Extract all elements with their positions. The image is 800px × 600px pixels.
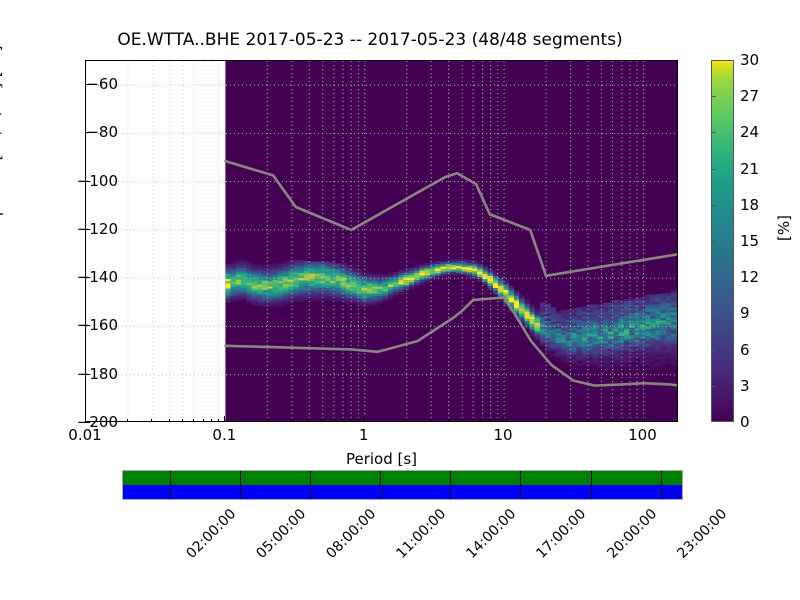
x-tick	[211, 419, 212, 423]
x-tick	[600, 419, 601, 423]
colorbar-tick	[711, 277, 716, 278]
timeline-tick-label: 23:00:00	[674, 506, 730, 562]
colorbar-tick	[711, 132, 716, 133]
y-tick	[85, 181, 90, 182]
x-tick	[193, 419, 194, 423]
x-tick	[448, 419, 449, 423]
ppsd-plot-axes	[85, 60, 678, 422]
timeline-tick-label: 11:00:00	[394, 506, 450, 562]
colorbar-tick-label: 30	[740, 51, 759, 69]
x-tick	[472, 419, 473, 423]
x-axis-label: Period [s]	[85, 450, 678, 468]
timeline-tick-label: 08:00:00	[323, 506, 379, 562]
colorbar-tick-label: 18	[740, 196, 759, 214]
y-tick-label: −80	[86, 123, 118, 141]
timeline-tick	[170, 471, 171, 499]
timeline-row-green	[123, 471, 682, 485]
x-tick	[151, 419, 152, 423]
x-tick	[350, 419, 351, 423]
x-tick	[333, 419, 334, 423]
x-tick	[481, 419, 482, 423]
timeline-row-blue	[123, 485, 682, 499]
x-tick	[461, 419, 462, 423]
colorbar-tick-label: 12	[740, 268, 759, 286]
colorbar-tick-label: 24	[740, 123, 759, 141]
y-tick	[85, 374, 90, 375]
timeline-tick	[240, 471, 241, 499]
y-tick-label: −120	[77, 220, 118, 238]
colorbar-tick-label: 9	[740, 304, 750, 322]
y-tick-label: −140	[77, 268, 118, 286]
colorbar-tick	[711, 205, 716, 206]
x-tick	[503, 416, 504, 422]
y-axis-label: Amplitude [m2/s4/Hz] [dB]	[0, 46, 4, 241]
x-tick	[629, 419, 630, 423]
y-tick	[85, 229, 90, 230]
timeline-tick	[310, 471, 311, 499]
colorbar-tick-label: 15	[740, 232, 759, 250]
y-tick-label: −160	[77, 316, 118, 334]
ppsd-heatmap	[86, 61, 677, 421]
x-tick-label: 1	[359, 426, 369, 444]
y-tick	[85, 325, 90, 326]
x-tick	[266, 419, 267, 423]
x-tick	[308, 419, 309, 423]
y-tick	[85, 422, 90, 423]
colorbar-tick-label: 0	[740, 413, 750, 431]
y-tick-label: −100	[77, 172, 118, 190]
y-tick-label: −60	[86, 75, 118, 93]
colorbar-tick	[711, 169, 716, 170]
timeline-tick	[450, 471, 451, 499]
y-tick-label: −180	[77, 365, 118, 383]
x-tick	[570, 419, 571, 423]
x-tick	[642, 416, 643, 422]
colorbar-tick-label: 6	[740, 341, 750, 359]
x-tick	[85, 416, 86, 422]
x-tick	[545, 419, 546, 423]
x-tick-label: 10	[494, 426, 513, 444]
x-tick	[182, 419, 183, 423]
timeline-tick	[661, 471, 662, 499]
x-tick	[406, 419, 407, 423]
timeline-tick-label: 02:00:00	[183, 506, 239, 562]
x-tick	[224, 416, 225, 422]
x-tick-label: 0.01	[68, 426, 101, 444]
x-tick	[169, 419, 170, 423]
x-tick	[612, 419, 613, 423]
x-tick-label: 0.1	[212, 426, 236, 444]
x-tick	[497, 419, 498, 423]
timeline-tick-label: 05:00:00	[253, 506, 309, 562]
colorbar-tick-label: 3	[740, 377, 750, 395]
colorbar-tick	[711, 386, 716, 387]
y-tick	[85, 132, 90, 133]
colorbar-tick	[711, 313, 716, 314]
colorbar-label: [%]	[775, 215, 793, 241]
x-tick	[621, 419, 622, 423]
x-tick	[364, 416, 365, 422]
timeline-tick-label: 17:00:00	[534, 506, 590, 562]
y-tick	[85, 277, 90, 278]
timeline-tick	[520, 471, 521, 499]
colorbar-tick-label: 21	[740, 160, 759, 178]
timeline-tick	[591, 471, 592, 499]
x-tick	[357, 419, 358, 423]
x-tick	[218, 419, 219, 423]
colorbar-tick	[711, 241, 716, 242]
x-tick	[587, 419, 588, 423]
y-tick	[85, 84, 90, 85]
page-title: OE.WTTA..BHE 2017-05-23 -- 2017-05-23 (4…	[0, 30, 740, 50]
colorbar-tick	[711, 350, 716, 351]
segment-timeline[interactable]	[122, 470, 683, 500]
x-tick	[322, 419, 323, 423]
x-tick	[636, 419, 637, 423]
timeline-tick	[380, 471, 381, 499]
x-tick	[430, 419, 431, 423]
colorbar-tick	[711, 96, 716, 97]
x-tick	[490, 419, 491, 423]
x-tick	[203, 419, 204, 423]
timeline-tick-label: 20:00:00	[604, 506, 660, 562]
x-tick	[342, 419, 343, 423]
x-tick	[127, 419, 128, 423]
x-tick-label: 100	[628, 426, 657, 444]
timeline-tick-label: 14:00:00	[464, 506, 520, 562]
colorbar-tick-label: 27	[740, 87, 759, 105]
x-tick	[291, 419, 292, 423]
